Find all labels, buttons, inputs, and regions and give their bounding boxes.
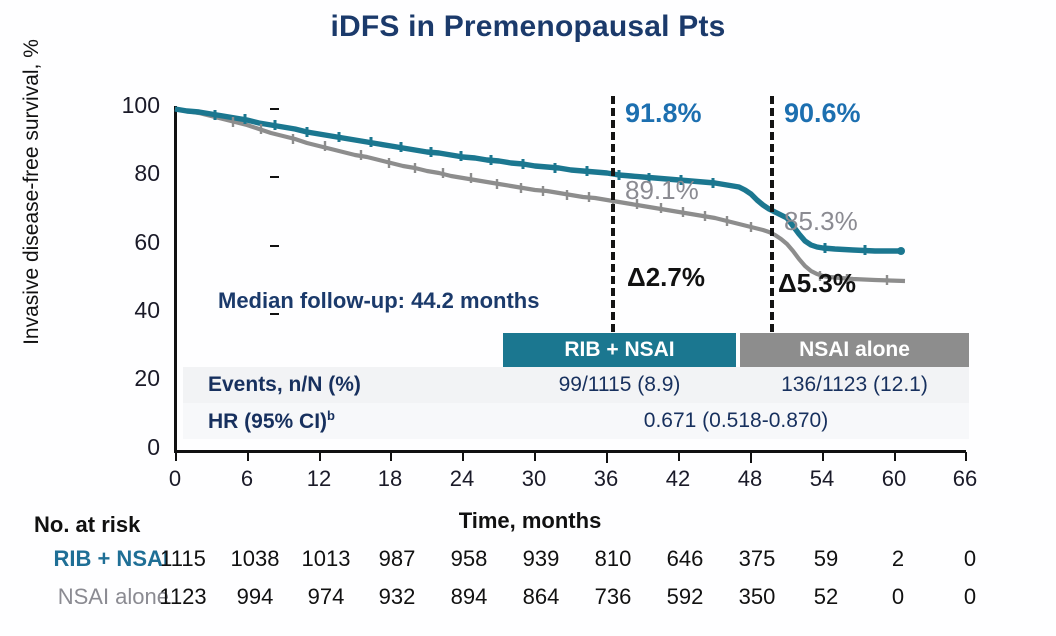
y-tick-label: 40 bbox=[114, 297, 160, 324]
y-tick-label: 100 bbox=[114, 92, 160, 119]
risk-value: 350 bbox=[722, 584, 792, 610]
summary-table-header: RIB + NSAI NSAI alone bbox=[183, 333, 969, 367]
annotation-delta-36: Δ2.7% bbox=[627, 262, 705, 293]
risk-value: 994 bbox=[220, 584, 290, 610]
summary-table: RIB + NSAI NSAI alone Events, n/N (%) 99… bbox=[183, 333, 969, 439]
x-tick bbox=[678, 452, 680, 461]
risk-row-label-nsai: NSAI alone bbox=[14, 584, 169, 610]
cell-events-nsai: 136/1123 (12.1) bbox=[740, 373, 969, 397]
risk-value: 1115 bbox=[148, 546, 218, 572]
page-title: iDFS in Premenopausal Pts bbox=[0, 10, 1056, 44]
y-tick-label: 80 bbox=[114, 160, 160, 187]
x-tick bbox=[462, 452, 464, 461]
x-tick bbox=[319, 452, 321, 461]
risk-value: 894 bbox=[434, 584, 504, 610]
footnote-marker: b bbox=[327, 408, 335, 423]
risk-value: 52 bbox=[791, 584, 861, 610]
x-tick-label: 18 bbox=[360, 466, 420, 492]
risk-value: 1123 bbox=[148, 584, 218, 610]
row-label-events: Events, n/N (%) bbox=[183, 373, 503, 397]
y-tick-group-100: 100 bbox=[104, 108, 160, 109]
x-axis-line bbox=[174, 450, 966, 453]
risk-value: 736 bbox=[578, 584, 648, 610]
risk-row-nsai: NSAI alone 1123 994 974 932 894 864 736 … bbox=[0, 584, 1056, 618]
y-tick-group-80: 80 bbox=[104, 176, 160, 177]
risk-value: 932 bbox=[362, 584, 432, 610]
risk-value: 2 bbox=[863, 546, 933, 572]
risk-value: 375 bbox=[722, 546, 792, 572]
y-tick-group-0: 0 bbox=[104, 450, 160, 451]
x-tick bbox=[606, 450, 608, 463]
row-label-hr-text: HR (95% CI) bbox=[208, 410, 327, 433]
risk-table-heading: No. at risk bbox=[34, 512, 140, 538]
x-tick-label: 0 bbox=[145, 466, 205, 492]
x-tick-label: 42 bbox=[648, 466, 708, 492]
risk-value: 0 bbox=[935, 546, 1005, 572]
annotation-nsai-36: 89.1% bbox=[625, 175, 699, 206]
slide-root: iDFS in Premenopausal Pts Invasive disea… bbox=[0, 0, 1056, 636]
x-tick bbox=[822, 452, 824, 461]
cell-hr-value: 0.671 (0.518-0.870) bbox=[503, 409, 969, 433]
risk-row-rib: RIB + NSAI 1115 1038 1013 987 958 939 81… bbox=[0, 546, 1056, 580]
censor-marks-nsai bbox=[233, 117, 887, 285]
annotation-rib-48: 90.6% bbox=[784, 98, 861, 129]
risk-value: 864 bbox=[506, 584, 576, 610]
x-tick-label: 6 bbox=[217, 466, 277, 492]
table-row: HR (95% CI)b 0.671 (0.518-0.870) bbox=[183, 403, 969, 439]
x-tick-label: 12 bbox=[289, 466, 349, 492]
risk-value: 0 bbox=[935, 584, 1005, 610]
risk-value: 592 bbox=[650, 584, 720, 610]
x-axis-title: Time, months bbox=[380, 508, 680, 534]
reference-line-36mo bbox=[611, 96, 615, 344]
risk-value: 810 bbox=[578, 546, 648, 572]
cell-events-rib: 99/1115 (8.9) bbox=[503, 373, 736, 397]
y-tick-group-40: 40 bbox=[104, 313, 160, 314]
row-label-hr: HR (95% CI)b bbox=[183, 408, 503, 434]
risk-value: 0 bbox=[863, 584, 933, 610]
x-tick bbox=[175, 452, 177, 461]
x-tick bbox=[965, 452, 967, 461]
annotation-nsai-48: 85.3% bbox=[784, 206, 858, 237]
table-row: Events, n/N (%) 99/1115 (8.9) 136/1123 (… bbox=[183, 367, 969, 403]
risk-value: 59 bbox=[791, 546, 861, 572]
risk-row-label-rib: RIB + NSAI bbox=[14, 546, 169, 572]
x-tick bbox=[247, 452, 249, 461]
y-tick-label: 20 bbox=[114, 365, 160, 392]
reference-line-48mo bbox=[770, 96, 774, 344]
y-tick-label: 0 bbox=[114, 434, 160, 461]
risk-value: 1038 bbox=[220, 546, 290, 572]
y-tick-group-60: 60 bbox=[104, 245, 160, 246]
x-tick bbox=[750, 450, 752, 463]
x-tick bbox=[534, 452, 536, 461]
annotation-delta-48: Δ5.3% bbox=[778, 268, 856, 299]
risk-value: 974 bbox=[291, 584, 361, 610]
risk-value: 939 bbox=[506, 546, 576, 572]
x-tick-label: 66 bbox=[935, 466, 995, 492]
risk-value: 1013 bbox=[291, 546, 361, 572]
x-tick-label: 24 bbox=[432, 466, 492, 492]
col-header-nsai-alone: NSAI alone bbox=[740, 333, 969, 367]
risk-value: 958 bbox=[434, 546, 504, 572]
x-tick bbox=[894, 452, 896, 461]
x-tick-label: 54 bbox=[792, 466, 852, 492]
curve-nsai-alone bbox=[175, 109, 905, 281]
median-followup-label: Median follow-up: 44.2 months bbox=[218, 288, 539, 314]
risk-value: 987 bbox=[362, 546, 432, 572]
y-tick-label: 60 bbox=[114, 229, 160, 256]
x-tick-label: 30 bbox=[504, 466, 564, 492]
risk-value: 646 bbox=[650, 546, 720, 572]
y-tick-group-20: 20 bbox=[104, 381, 160, 382]
col-header-rib-nsai: RIB + NSAI bbox=[503, 333, 736, 367]
x-tick-label: 48 bbox=[720, 466, 780, 492]
x-tick-label: 60 bbox=[864, 466, 924, 492]
x-tick-label: 36 bbox=[576, 466, 636, 492]
x-tick bbox=[390, 452, 392, 461]
annotation-rib-36: 91.8% bbox=[625, 98, 702, 129]
y-axis-title: Invasive disease-free survival, % bbox=[20, 0, 44, 392]
